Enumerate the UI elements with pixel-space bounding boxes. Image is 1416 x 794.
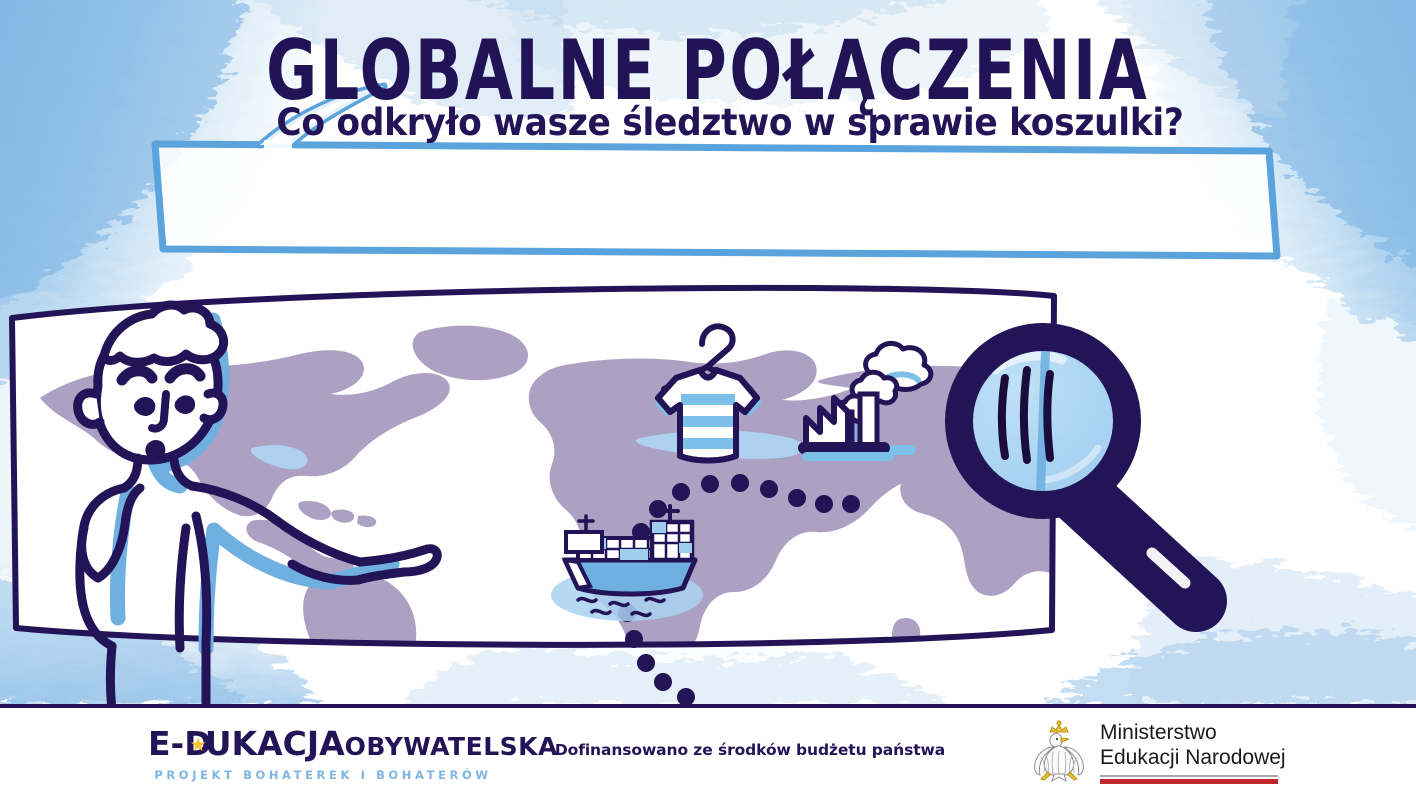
edukacja-obywatelska-logo: E-D★UKACJAOBYWATELSKA PROJEKT BOHATEREK … <box>148 726 498 785</box>
slide-subtitle: Co odkryło wasze śledztwo w sprawie kosz… <box>209 101 1251 145</box>
ministry-name-line1: Ministerstwo <box>1100 720 1286 745</box>
slide-root: Co odkryło wasze śledztwo w sprawie kosz… <box>0 0 1416 794</box>
factory-chimney-tall <box>860 394 877 446</box>
illustration-stage <box>0 270 1416 705</box>
ministry-accent-bars <box>1100 775 1278 784</box>
funding-statement: Dofinansowano ze środków budżetu państwa <box>500 740 1000 760</box>
edukacja-logo-mid: UKACJA <box>205 724 345 763</box>
ministry-name-line2: Edukacji Narodowej <box>1100 745 1286 770</box>
edukacja-logo-wordmark: E-D★UKACJAOBYWATELSKA <box>148 726 498 765</box>
ministry-red-bar <box>1100 779 1278 784</box>
ministry-gray-bar <box>1100 775 1278 777</box>
ministry-wordmark: Ministerstwo Edukacji Narodowej <box>1100 718 1286 784</box>
speech-bubble-outline <box>155 144 1277 256</box>
edukacja-logo-tagline: PROJEKT BOHATEREK I BOHATERÓW <box>148 765 498 785</box>
edukacja-logo-prefix: E- <box>148 724 184 763</box>
polish-eagle-emblem <box>1030 719 1088 783</box>
ministry-logo: Ministerstwo Edukacji Narodowej <box>1030 716 1340 786</box>
page-title-block: GLOBALNE POŁĄCZENIA <box>0 26 1416 106</box>
